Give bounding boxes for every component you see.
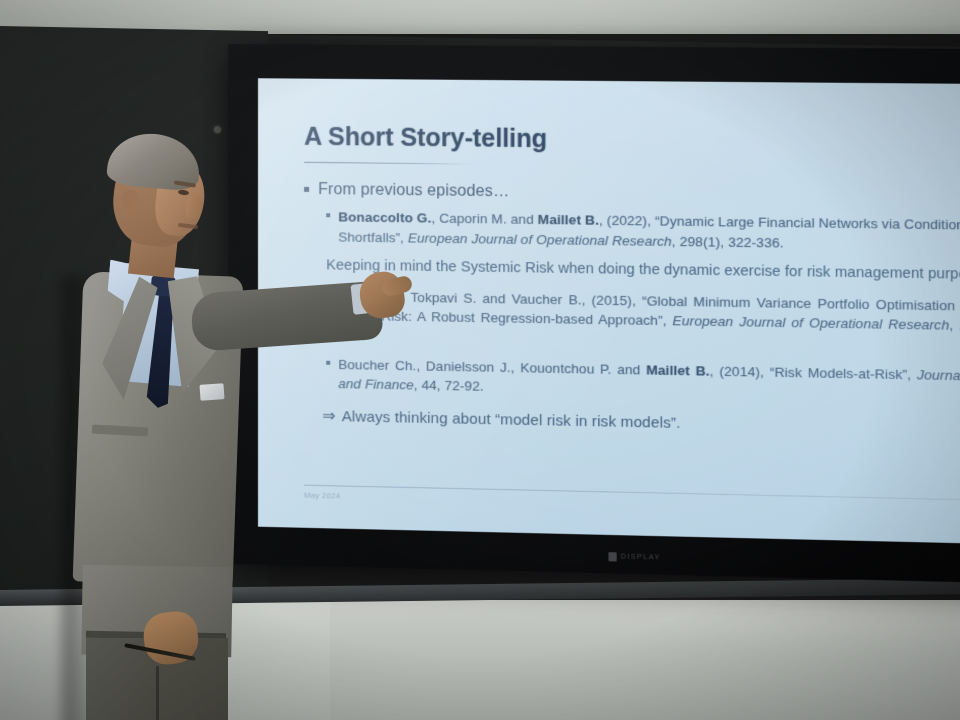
double-arrow-icon: ⇒ [322,408,336,425]
square-bullet-icon [326,213,330,217]
square-bullet-icon [326,360,330,364]
note-paragraph: Keeping in mind the Systemic Risk when d… [326,255,960,287]
reference-journal: European Journal of Operational Research [672,313,949,333]
reference-journal: European Journal of Operational Research [408,230,672,249]
reference-author-bold-2: Maillet B. [538,212,599,228]
reference-author-bold: Bonaccolto G. [338,209,431,225]
reference-text-bonaccolto: Bonaccolto G., Caporin M. and Maillet B.… [338,207,960,256]
reference-authors-mid: Boucher Ch., Danielsson J., Kouontchou P… [338,356,646,377]
brand-name: DISPLAY [621,553,661,561]
display-brand-logo: DISPLAY [608,551,688,564]
lecture-scene: A Short Story-telling From previous epis… [0,0,960,720]
reference-author-bold-2: Maillet B. [646,362,709,378]
reference-item: Boucher Ch., Danielsson J., Kouontchou P… [326,354,960,407]
slide-title: A Short Story-telling [304,125,960,158]
reference-title: “Risk Models-at-Risk” [770,364,907,382]
presenter-pocket-square [199,383,224,401]
reference-locator: , 298(1), 322-336. [672,233,784,250]
conclusion-line: ⇒Always thinking about “model risk in ri… [322,405,960,439]
reference-text-boucher: Boucher Ch., Danielsson J., Kouontchou P… [338,354,960,406]
reference-year: , (2015), [582,292,642,308]
bullet-from-previous-episodes: From previous episodes… [304,180,960,209]
presenter-trouser-seam [156,666,159,720]
slide-footer: May 2024 11 [304,485,960,515]
reference-year: , (2014), [710,363,770,379]
reference-item: Maillet B., Tokpavi S. and Vaucher B., (… [326,286,960,357]
reference-item: Bonaccolto G., Caporin M. and Maillet B.… [326,207,960,256]
conclusion-text: Always thinking about “model risk in ris… [342,408,681,432]
slide-body: From previous episodes… Bonaccolto G., C… [304,180,960,440]
reference-authors-mid: , Caporin M. and [431,211,537,227]
reference-year: , (2022), [599,213,655,229]
reference-authors-mid: , Tokpavi S. and Vaucher B. [401,289,582,307]
brand-mark-icon [608,552,616,561]
bullet-label: From previous episodes… [318,180,509,202]
presenter [52,126,322,720]
reference-locator: , 44, 72-92. [414,378,484,394]
reference-text-maillet: Maillet B., Tokpavi S. and Vaucher B., (… [338,287,960,358]
presenter-ear [122,190,139,213]
title-underline [304,162,474,165]
